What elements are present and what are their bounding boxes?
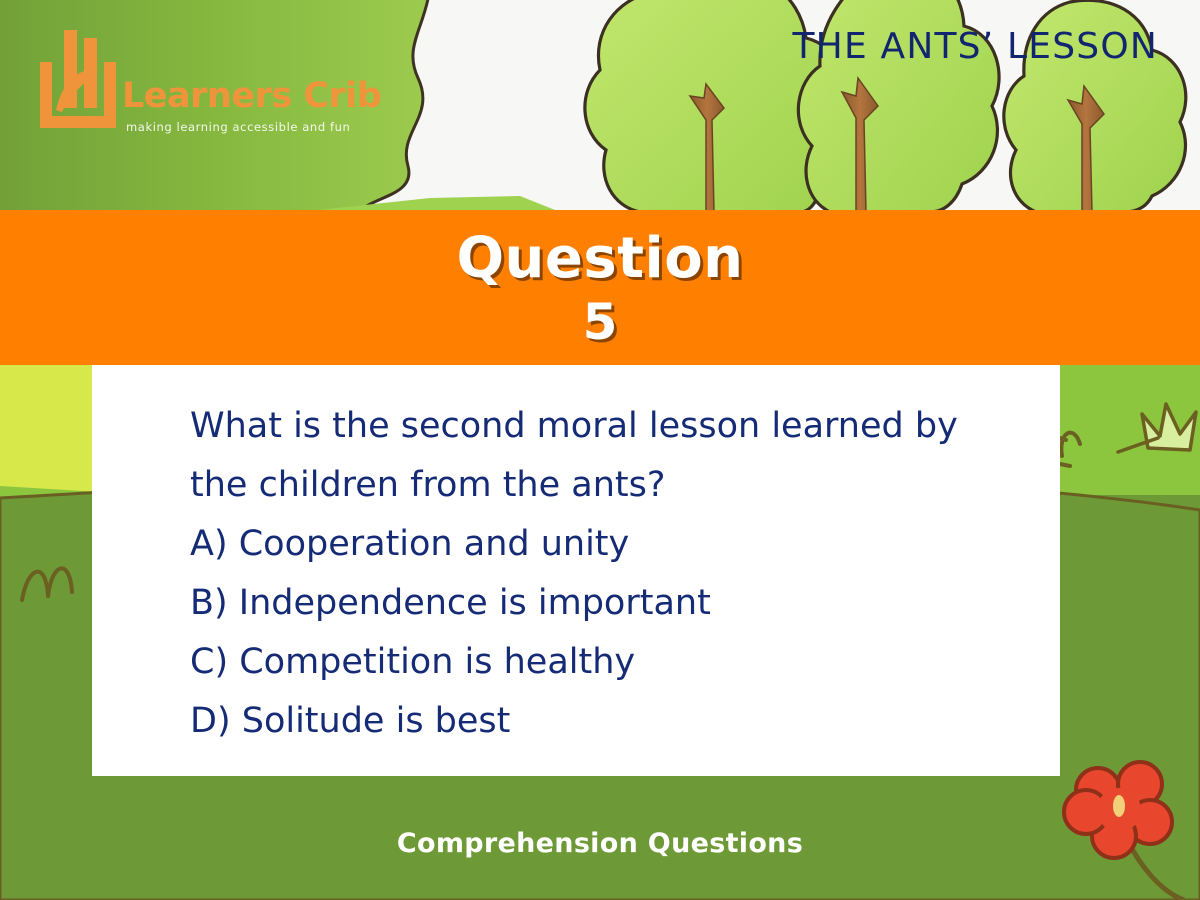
question-prompt-line-2: the children from the ants? — [190, 456, 1020, 515]
answer-option-d[interactable]: D) Solitude is best — [190, 692, 1020, 751]
answer-option-c[interactable]: C) Competition is healthy — [190, 633, 1020, 692]
footer-label: Comprehension Questions — [0, 828, 1200, 859]
question-prompt-line-1: What is the second moral lesson learned … — [190, 397, 1020, 456]
question-banner-number: 5 — [583, 297, 618, 347]
logo-wordmark: Learners Crib — [122, 76, 381, 116]
open-book-leaf-logo-icon — [34, 28, 120, 132]
question-card: What is the second moral lesson learned … — [92, 365, 1060, 776]
logo-tagline: making learning accessible and fun — [126, 120, 350, 134]
answer-option-a[interactable]: A) Cooperation and unity — [190, 515, 1020, 574]
slide-root: Learners Crib making learning accessible… — [0, 0, 1200, 900]
question-banner-word: Question — [456, 231, 743, 287]
answer-option-b[interactable]: B) Independence is important — [190, 574, 1020, 633]
brand-logo[interactable]: Learners Crib making learning accessible… — [34, 28, 334, 138]
question-banner: Question 5 — [0, 210, 1200, 365]
page-title: THE ANTS’ LESSON — [792, 26, 1158, 67]
